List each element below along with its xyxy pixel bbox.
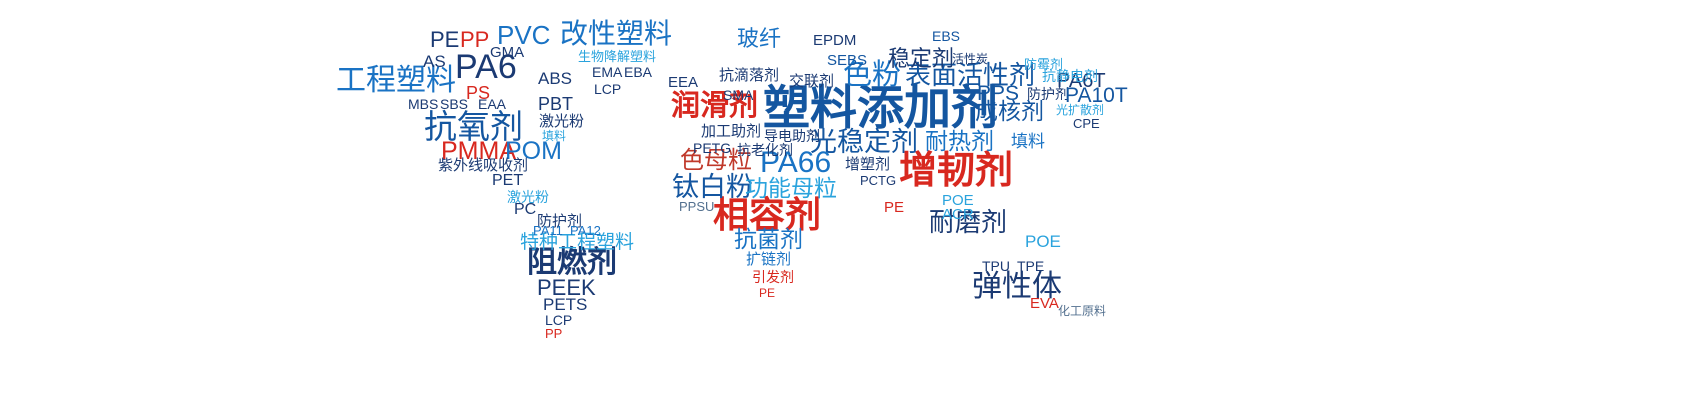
word-cloud-term: TPU bbox=[982, 259, 1010, 273]
word-cloud-term: TPE bbox=[1017, 259, 1044, 273]
word-cloud-term: 防护剂 bbox=[1027, 87, 1069, 101]
word-cloud-term: PCTG bbox=[860, 174, 896, 187]
word-cloud-term: CPE bbox=[1073, 117, 1100, 130]
word-cloud-term: 钛白粉 bbox=[672, 174, 753, 201]
word-cloud-term: PETS bbox=[543, 296, 587, 313]
word-cloud-term: ACR bbox=[942, 207, 974, 222]
word-cloud-term: MBS bbox=[408, 97, 438, 111]
word-cloud-term: ABS bbox=[538, 70, 572, 87]
word-cloud-term: EEA bbox=[668, 75, 698, 90]
word-cloud-term: PE bbox=[430, 29, 459, 51]
word-cloud-term: 紫外线吸收剂 bbox=[438, 158, 528, 173]
word-cloud-term: 化工原料 bbox=[1058, 305, 1106, 317]
word-cloud-term: 活性炭 bbox=[952, 53, 988, 65]
word-cloud-term: SEBS bbox=[827, 53, 867, 68]
word-cloud-term: SBS bbox=[440, 97, 468, 111]
word-cloud-term: 交联剂 bbox=[789, 74, 834, 89]
word-cloud-term: 改性塑料 bbox=[560, 20, 672, 48]
word-cloud-term: 引发剂 bbox=[752, 270, 794, 284]
word-cloud-term: 填料 bbox=[1011, 133, 1045, 150]
word-cloud-term: LCP bbox=[545, 313, 572, 327]
word-cloud-term: LCP bbox=[594, 82, 621, 96]
word-cloud-term: EAA bbox=[478, 97, 506, 111]
word-cloud-term: 增韧剂 bbox=[899, 152, 1013, 190]
word-cloud-term: PE bbox=[759, 287, 775, 299]
word-cloud-term: 功能母粒 bbox=[745, 177, 837, 200]
word-cloud-term: PBT bbox=[538, 95, 573, 113]
word-cloud-term: 加工助剂 bbox=[701, 124, 761, 139]
word-cloud-term: 光扩散剂 bbox=[1056, 104, 1104, 116]
word-cloud-term: 激光粉 bbox=[539, 114, 584, 129]
word-cloud-term: EVA bbox=[1030, 296, 1059, 311]
word-cloud-term: EBS bbox=[932, 29, 960, 43]
word-cloud-term: 扩链剂 bbox=[746, 252, 791, 267]
word-cloud-term: 填料 bbox=[542, 130, 566, 142]
word-cloud-term: PPSU bbox=[679, 200, 714, 213]
word-cloud-term: PA12 bbox=[570, 224, 601, 237]
word-cloud-term: 抗静电剂 bbox=[1042, 69, 1098, 83]
word-cloud-term: 导电助剂 bbox=[764, 129, 820, 143]
word-cloud-term: POE bbox=[1025, 233, 1061, 250]
word-cloud-term: 增塑剂 bbox=[845, 157, 890, 172]
word-cloud-term: PPS bbox=[977, 83, 1019, 104]
word-cloud-term: EBA bbox=[624, 65, 652, 79]
word-cloud-term: PP bbox=[545, 327, 562, 340]
word-cloud-term: PET bbox=[492, 173, 523, 189]
word-cloud-term: PA11 bbox=[533, 224, 563, 237]
word-cloud-term: EPDM bbox=[813, 33, 856, 48]
word-cloud-term: PETG bbox=[693, 141, 731, 155]
word-cloud-term: PP bbox=[460, 29, 489, 51]
word-cloud-term: 生物降解塑料 bbox=[578, 50, 656, 63]
word-cloud-term: 抗菌剂 bbox=[734, 228, 803, 251]
word-cloud-term: 抗老化剂 bbox=[737, 143, 793, 157]
word-cloud-canvas: 塑料添加剂增韧剂相容剂工程塑料抗氧剂阻燃剂PA6改性塑料润滑剂表面活性剂色粉光稳… bbox=[0, 0, 1707, 400]
word-cloud-term: PE bbox=[884, 200, 904, 215]
word-cloud-term: 耐热剂 bbox=[925, 130, 994, 153]
word-cloud-term: AS bbox=[423, 53, 446, 70]
word-cloud-term: 抗滴落剂 bbox=[719, 68, 779, 83]
word-cloud-term: 稳定剂 bbox=[888, 48, 954, 70]
word-cloud-term: SMA bbox=[723, 88, 753, 102]
word-cloud-term: GMA bbox=[490, 45, 524, 60]
word-cloud-term: PC bbox=[514, 202, 536, 218]
word-cloud-term: 塑料添加剂 bbox=[763, 84, 998, 131]
word-cloud-term: EMA bbox=[592, 65, 622, 79]
word-cloud-term: 玻纤 bbox=[737, 28, 781, 50]
